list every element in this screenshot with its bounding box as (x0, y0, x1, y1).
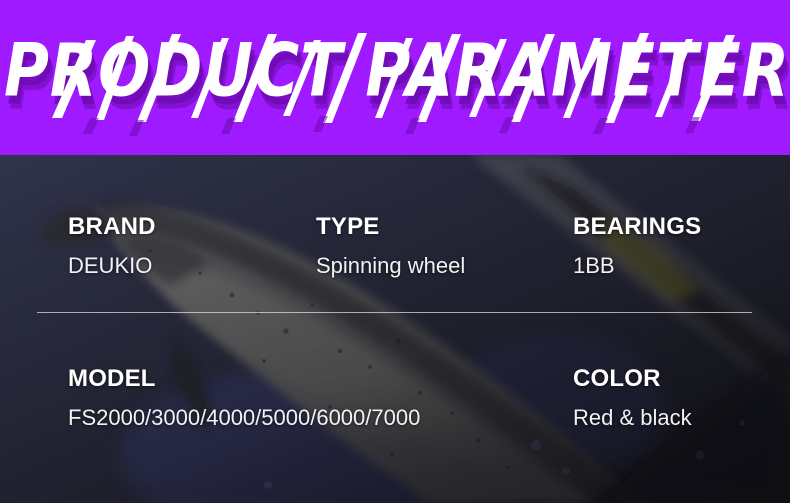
product-parameter-infographic: PRODUCT PARAMETER (0, 0, 790, 503)
banner-title-wrap: PRODUCT PARAMETER (0, 0, 790, 155)
spec-cell-color: COLOR Red & black (573, 367, 692, 429)
spec-cell-type: TYPE Spinning wheel (316, 215, 465, 277)
spec-grid: BRAND DEUKIO TYPE Spinning wheel BEARING… (0, 155, 790, 503)
spec-label-bearings: BEARINGS (573, 215, 701, 239)
spec-body: BRAND DEUKIO TYPE Spinning wheel BEARING… (0, 155, 790, 503)
spec-value-type: Spinning wheel (316, 255, 465, 277)
row-divider (37, 312, 752, 313)
spec-value-model: FS2000/3000/4000/5000/6000/7000 (68, 407, 420, 429)
header-banner: PRODUCT PARAMETER (0, 0, 790, 155)
spec-cell-model: MODEL FS2000/3000/4000/5000/6000/7000 (68, 367, 420, 429)
spec-label-color: COLOR (573, 367, 692, 391)
spec-value-brand: DEUKIO (68, 255, 156, 277)
spec-value-bearings: 1BB (573, 255, 701, 277)
spec-cell-brand: BRAND DEUKIO (68, 215, 156, 277)
spec-label-type: TYPE (316, 215, 465, 239)
spec-cell-bearings: BEARINGS 1BB (573, 215, 701, 277)
spec-value-color: Red & black (573, 407, 692, 429)
spec-label-brand: BRAND (68, 215, 156, 239)
page-title: PRODUCT PARAMETER (4, 34, 786, 107)
spec-label-model: MODEL (68, 367, 420, 391)
